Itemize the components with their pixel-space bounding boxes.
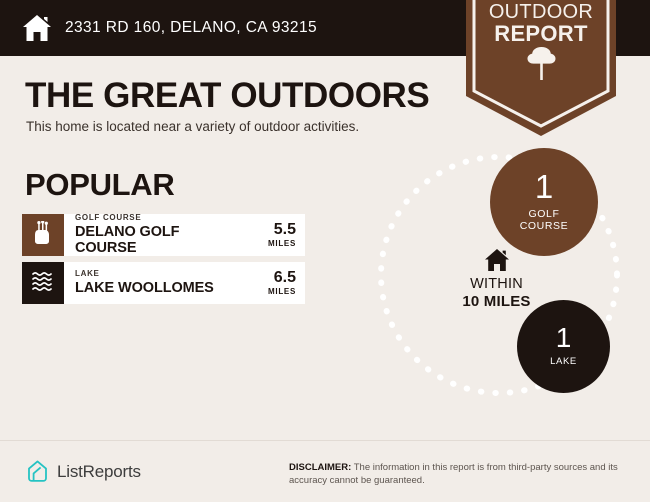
list-item-distance-value: 6.5 <box>274 270 296 287</box>
list-item-name: LAKE WOOLLOMES <box>75 280 238 297</box>
listreports-logo[interactable]: ListReports <box>25 459 141 484</box>
list-item-distance-unit: MILES <box>268 287 296 296</box>
stat-count: 1 <box>535 172 553 202</box>
list-item-category: LAKE <box>75 269 238 279</box>
stat-label-line1: LAKE <box>550 357 577 368</box>
list-item-distance-unit: MILES <box>268 239 296 248</box>
golf-bag-icon <box>33 221 53 250</box>
stat-count: 1 <box>556 325 572 350</box>
list-item-distance-value: 5.5 <box>274 222 296 239</box>
within-radius-block: WITHIN 10 MILES <box>434 248 559 310</box>
list-item[interactable]: GOLF COURSE DELANO GOLF COURSE 5.5 MILES <box>22 214 305 256</box>
popular-list: GOLF COURSE DELANO GOLF COURSE 5.5 MILES <box>22 214 305 310</box>
disclaimer-label: DISCLAIMER: <box>289 462 351 473</box>
footer-divider <box>0 440 650 441</box>
outdoor-report-badge: OUTDOOR REPORT <box>466 0 616 136</box>
stat-circle-golf-course: 1 GOLF COURSE <box>490 148 598 256</box>
list-item-name: DELANO GOLF COURSE <box>75 224 238 257</box>
list-item-body: LAKE LAKE WOOLLOMES <box>64 262 238 304</box>
header-address-block: 2331 RD 160, DELANO, CA 93215 <box>22 0 317 56</box>
listreports-house-icon <box>25 459 50 484</box>
list-item-distance: 6.5 MILES <box>238 262 305 304</box>
list-item-category: GOLF COURSE <box>75 213 238 223</box>
tree-icon <box>526 46 557 80</box>
list-item-distance: 5.5 MILES <box>238 214 305 256</box>
proximity-infographic: WITHIN 10 MILES 1 GOLF COURSE 1 LAKE <box>370 140 650 410</box>
list-item-icon-tile <box>22 214 64 256</box>
stat-label-line1: GOLF <box>520 208 569 220</box>
list-item[interactable]: LAKE LAKE WOOLLOMES 6.5 MILES <box>22 262 305 304</box>
badge-title-line1: OUTDOOR <box>466 2 616 23</box>
within-label-line1: WITHIN <box>434 277 559 293</box>
header-address-text: 2331 RD 160, DELANO, CA 93215 <box>65 19 317 37</box>
list-item-icon-tile <box>22 262 64 304</box>
home-icon <box>22 14 52 42</box>
badge-title-line2: REPORT <box>466 23 616 46</box>
stat-label: LAKE <box>550 357 577 368</box>
badge-text-block: OUTDOOR REPORT <box>466 2 616 46</box>
outdoor-report-page: 2331 RD 160, DELANO, CA 93215 OUTDOOR RE… <box>0 0 650 502</box>
popular-section-heading: POPULAR <box>25 167 174 203</box>
disclaimer: DISCLAIMER: The information in this repo… <box>289 462 637 488</box>
page-subtitle: This home is located near a variety of o… <box>26 119 359 134</box>
listreports-logo-text: ListReports <box>57 462 141 482</box>
stat-circle-lake: 1 LAKE <box>517 300 610 393</box>
stat-label-line2: COURSE <box>520 220 569 232</box>
page-title: THE GREAT OUTDOORS <box>25 76 429 116</box>
waves-icon <box>31 271 55 296</box>
list-item-body: GOLF COURSE DELANO GOLF COURSE <box>64 214 238 256</box>
stat-label: GOLF COURSE <box>520 208 569 232</box>
